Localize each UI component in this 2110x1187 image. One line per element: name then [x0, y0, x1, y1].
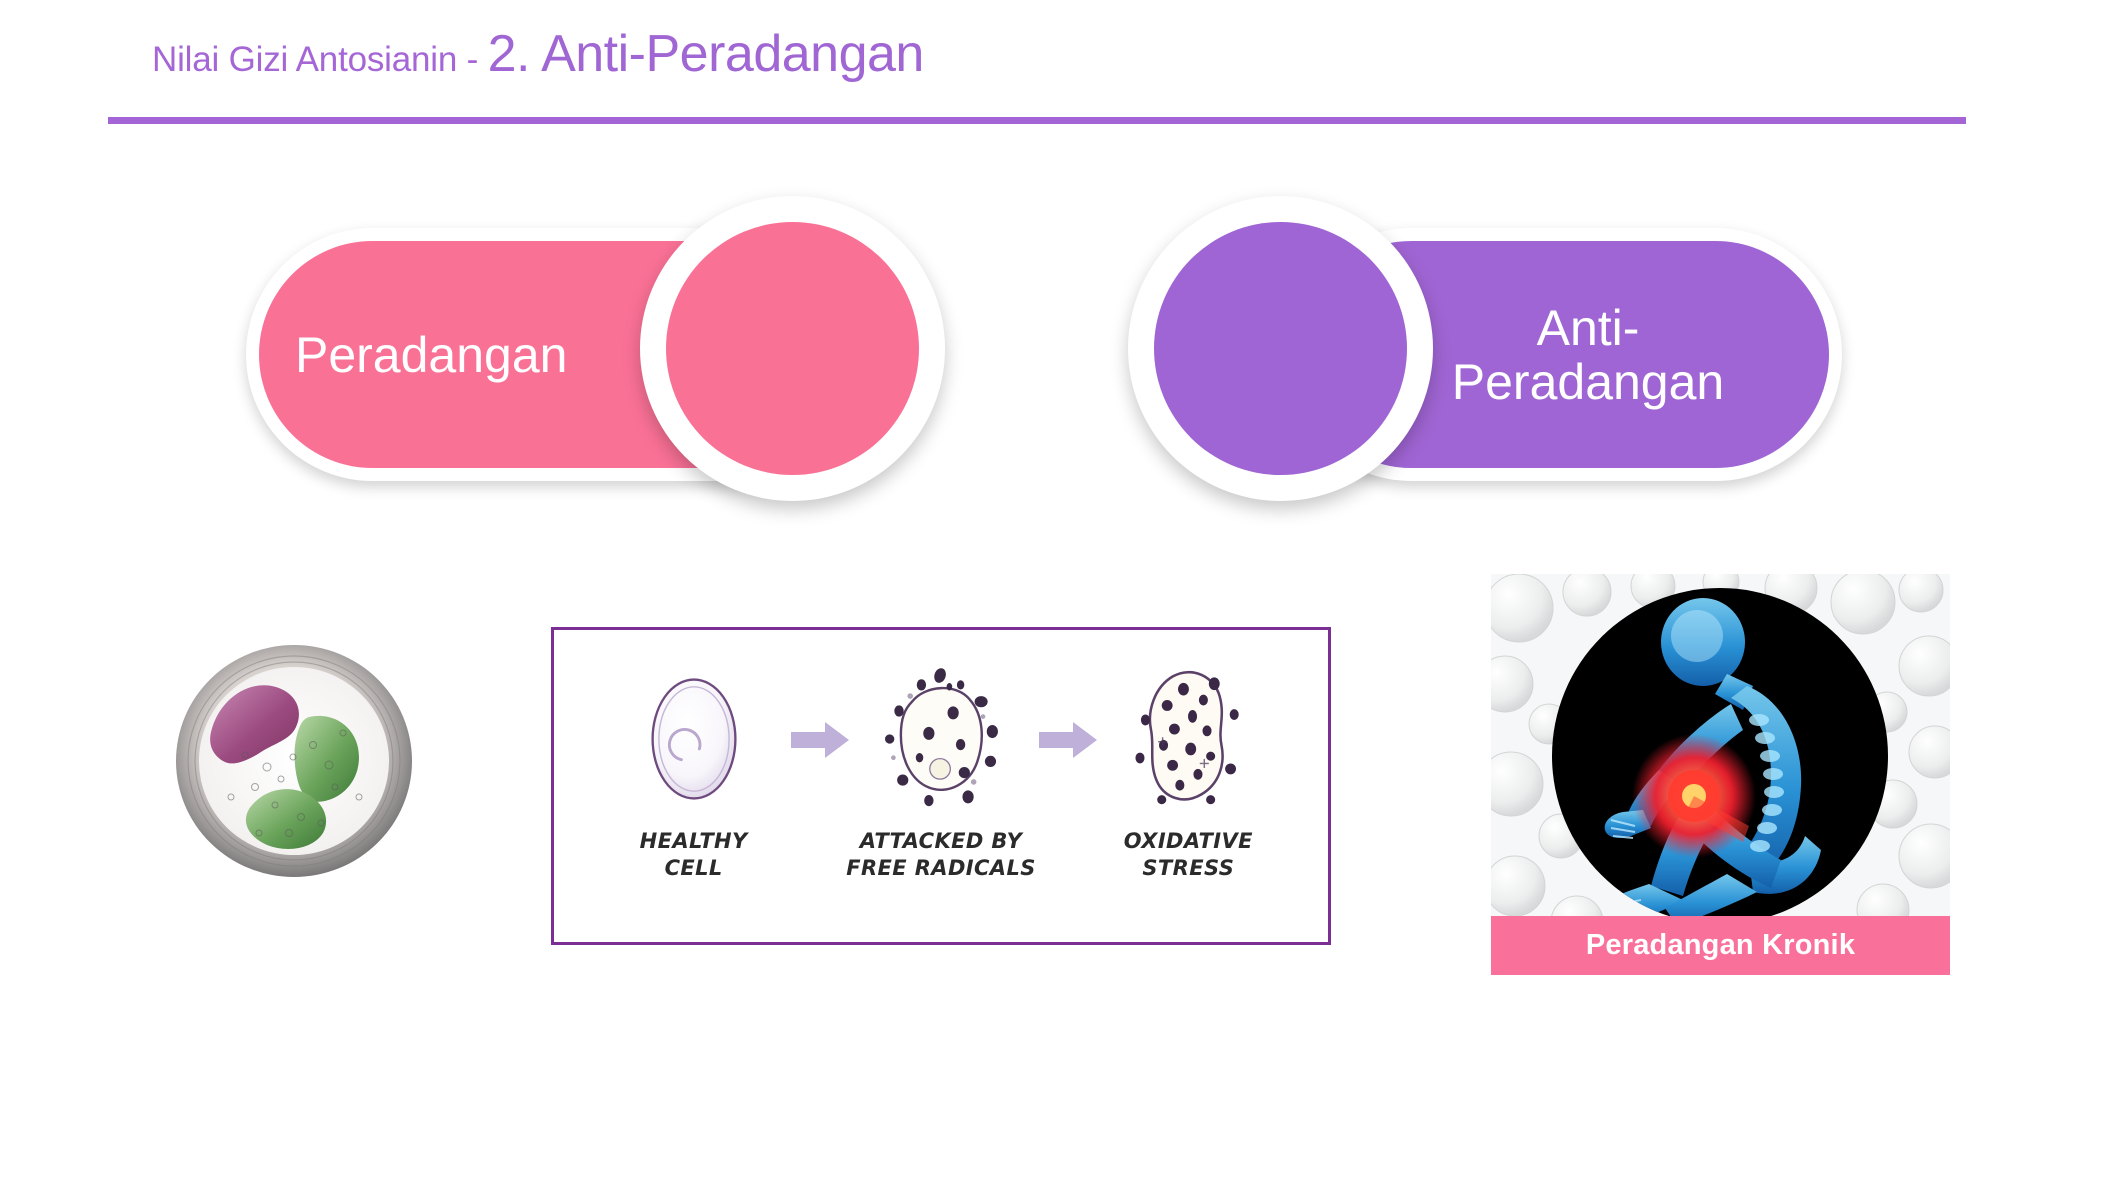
page-title-main: 2. Anti-Peradangan [488, 25, 924, 83]
stage-oxidative-stress: OXIDATIVE STRESS [1088, 664, 1288, 883]
anti-peradangan-circle [1128, 196, 1433, 501]
xray-knee-pain-icon [1491, 574, 1950, 974]
page-title-eyebrow: Nilai Gizi Antosianin - [152, 40, 488, 79]
oxidative-stress-diagram: HEALTHY CELL [551, 627, 1331, 945]
chronic-inflammation-caption-text: Peradangan Kronik [1586, 929, 1855, 962]
peradangan-circle [640, 196, 945, 501]
anti-peradangan-label: Anti- Peradangan [1373, 301, 1803, 409]
anti-peradangan-circle-fill [1154, 222, 1407, 475]
oxidative-stress-cell-icon [1120, 664, 1256, 814]
stage-attacked-by-free-radicals: ATTACKED BY FREE RADICALS [841, 664, 1041, 883]
title-divider [108, 117, 1966, 124]
stage-caption: ATTACKED BY FREE RADICALS [846, 828, 1036, 883]
attacked-cell-icon [871, 664, 1011, 814]
peradangan-label: Peradangan [295, 328, 567, 382]
peradangan-circle-fill [666, 222, 919, 475]
healthy-cell-icon [640, 664, 748, 814]
chronic-inflammation-image [1491, 574, 1950, 974]
stage-caption: HEALTHY CELL [640, 828, 748, 883]
white-blood-cell-image [163, 637, 425, 885]
arrow-right-icon [1039, 720, 1097, 760]
chronic-inflammation-card: Peradangan Kronik [1491, 574, 1950, 974]
white-blood-cell-icon [163, 637, 425, 885]
arrow-right-icon [791, 720, 849, 760]
stage-healthy-cell: HEALTHY CELL [594, 664, 794, 883]
oxidative-stages: HEALTHY CELL [554, 630, 1328, 942]
page-title: Nilai Gizi Antosianin - 2. Anti-Peradang… [152, 28, 924, 80]
chronic-inflammation-caption: Peradangan Kronik [1491, 916, 1950, 975]
stage-caption: OXIDATIVE STRESS [1124, 828, 1253, 883]
